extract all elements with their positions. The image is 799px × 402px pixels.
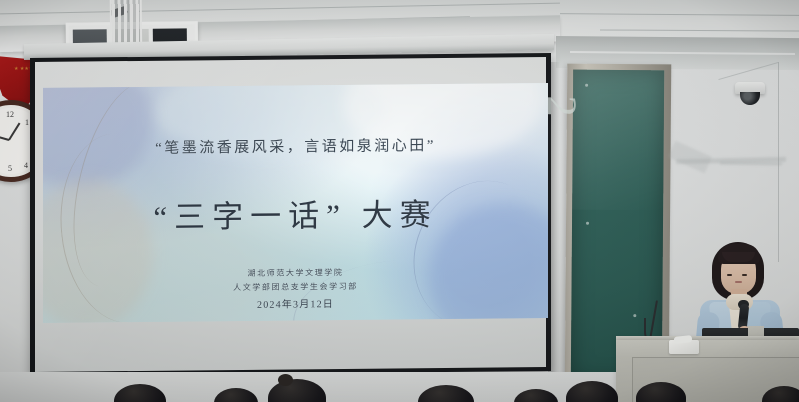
slide-title: “三字一话” 大赛 — [43, 188, 548, 238]
presenter-bangs — [722, 252, 755, 262]
chalk-dot — [586, 222, 589, 225]
clock-hour-hand — [0, 135, 9, 141]
clock-numeral: 1 — [25, 118, 29, 127]
slide-text-block: “笔墨流香展风采，言语如泉润心田” “三字一话” 大赛 湖北师范大学文理学院 人… — [43, 83, 548, 323]
slide-org-line-1: 湖北师范大学文理学院 — [43, 265, 548, 281]
clock-numeral: 5 — [8, 164, 12, 173]
chalk-dot — [633, 314, 636, 317]
blackboard-chalk-mark: 2 — [537, 95, 585, 116]
presenter-mouth — [735, 281, 742, 283]
presenter-eye — [727, 274, 732, 276]
projector-screen-surface: “笔墨流香展风采，言语如泉润心田” “三字一话” 大赛 湖北师范大学文理学院 人… — [35, 57, 546, 372]
audience-hair-bun — [278, 374, 293, 386]
classroom-scene: ★ ★★★ 12 1 2 3 4 5 — [0, 0, 799, 402]
screen-brand-label — [493, 39, 547, 49]
blackboard-sheen — [572, 70, 664, 211]
clock-minute-hand — [8, 123, 20, 141]
chalk-dot — [585, 84, 588, 87]
presenter-eye — [742, 274, 747, 276]
slide-date: 2024年3月12日 — [43, 293, 548, 313]
clock-numeral: 4 — [24, 161, 28, 170]
projected-slide: “笔墨流香展风采，言语如泉润心田” “三字一话” 大赛 湖北师范大学文理学院 人… — [43, 83, 548, 323]
slide-org-line-2: 人文学部团总支学生会学习部 — [43, 279, 548, 295]
slide-tagline: “笔墨流香展风采，言语如泉润心田” — [43, 133, 548, 159]
clock-numeral: 12 — [6, 110, 14, 119]
projector-screen: “笔墨流香展风采，言语如泉润心田” “三字一话” 大赛 湖北师范大学文理学院 人… — [30, 53, 551, 376]
